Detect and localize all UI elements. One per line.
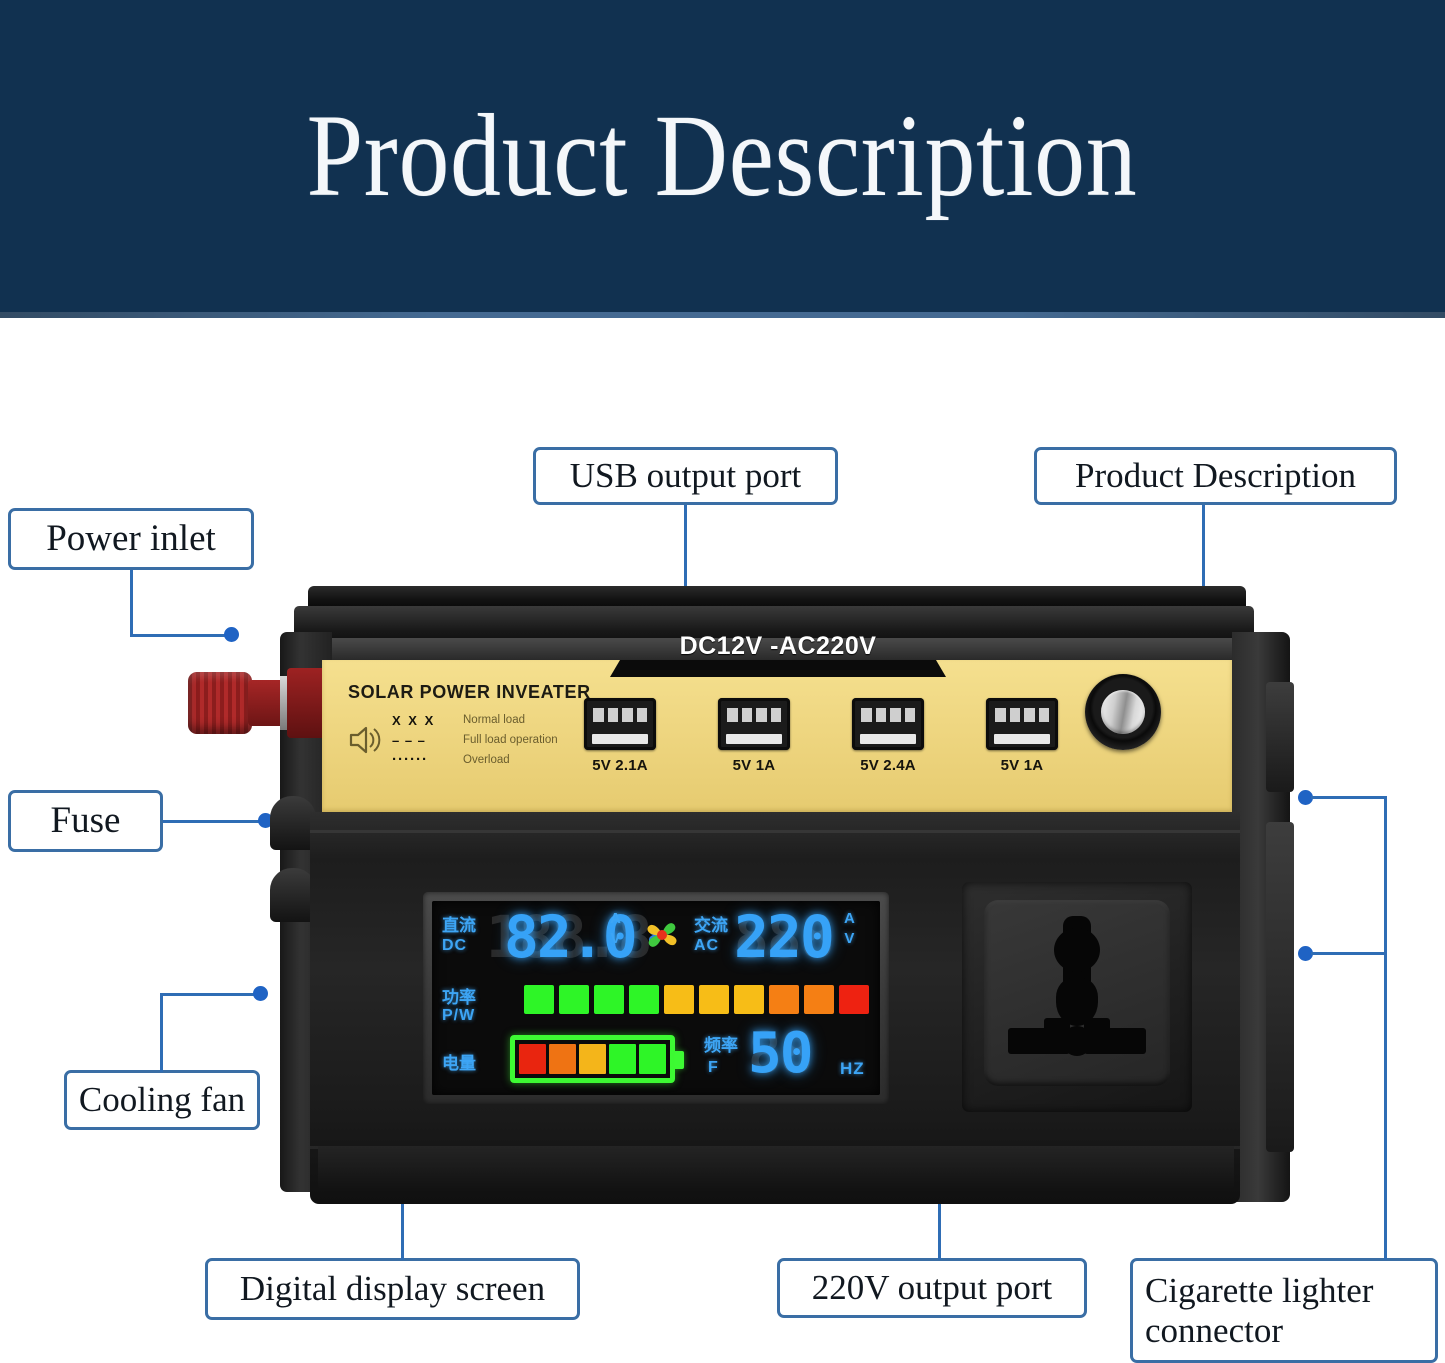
label-plate-notch xyxy=(610,660,946,677)
device-mount-ear-top xyxy=(1266,682,1294,792)
digital-display-screen: 直流 DC 188.8 82.0 A V xyxy=(423,892,889,1104)
alarm-row: – – – Full load operation xyxy=(392,730,558,750)
leader-power-inlet-horizontal xyxy=(130,634,230,637)
leader-cigarette-trunk xyxy=(1384,796,1387,1260)
lcd-power-label-cn: 功率 xyxy=(442,983,476,1008)
power-bar-segment-4 xyxy=(629,985,659,1014)
power-button[interactable] xyxy=(1085,674,1161,750)
power-inlet-plug xyxy=(188,664,338,742)
lcd-freq-label-cn: 频率 xyxy=(704,1031,738,1056)
power-bar-segment-1 xyxy=(524,985,554,1014)
callout-label: Cigarette lighter connector xyxy=(1145,1271,1423,1349)
callout-label: 220V output port xyxy=(812,1268,1052,1307)
leader-cigarette-upper-horizontal xyxy=(1311,796,1387,799)
banner-underline xyxy=(0,312,1445,318)
power-bar-segment-7 xyxy=(734,985,764,1014)
callout-digital-display-screen: Digital display screen xyxy=(205,1258,580,1320)
usb-port-shell xyxy=(584,698,656,750)
lcd-ac-label-en: AC xyxy=(694,937,719,955)
lcd-freq-value: 50 xyxy=(748,1021,811,1086)
power-bar-segment-8 xyxy=(769,985,799,1014)
callout-label: Power inlet xyxy=(46,518,216,559)
device-body-ridge xyxy=(310,830,1240,833)
lcd-dc-label-cn: 直流 xyxy=(442,911,476,936)
callout-label: Fuse xyxy=(51,800,121,841)
leader-cigarette-lower-horizontal xyxy=(1311,952,1387,955)
lcd-dc-unit-bottom: V xyxy=(610,929,621,949)
usb-port-shell xyxy=(852,698,924,750)
usb-port-label: 5V 1A xyxy=(718,757,790,774)
alarm-text: Overload xyxy=(463,754,510,766)
lcd-panel: 直流 DC 188.8 82.0 A V xyxy=(432,901,880,1095)
alarm-text: Full load operation xyxy=(463,734,558,746)
battery-terminal-nub xyxy=(675,1051,684,1069)
lcd-ac-unit-bottom: V xyxy=(844,929,855,949)
usb-port-3[interactable]: 5V 2.4A xyxy=(852,698,924,774)
page-header-banner: Product Description xyxy=(0,0,1445,312)
callout-power-inlet: Power inlet xyxy=(8,508,254,570)
lcd-freq-label-en: F xyxy=(708,1059,719,1077)
lcd-battery-label-cn: 电量 xyxy=(442,1049,476,1074)
alarm-text: Normal load xyxy=(463,714,525,726)
lcd-ac-value: 220 xyxy=(734,903,833,971)
usb-port-label: 5V 2.1A xyxy=(584,757,656,774)
lcd-ac-unit-top: A xyxy=(844,909,855,929)
leader-cooling-fan-vertical xyxy=(160,995,163,1072)
usb-port-shell xyxy=(986,698,1058,750)
usb-port-label: 5V 2.4A xyxy=(852,757,924,774)
alarm-legend-rows: X X X Normal load – – – Full load operat… xyxy=(392,710,558,770)
lcd-power-label-en: P/W xyxy=(442,1007,475,1025)
lcd-freq-unit: HZ xyxy=(840,1059,865,1079)
callout-usb-output-port: USB output port xyxy=(533,447,838,505)
power-button-cap xyxy=(1101,690,1145,734)
brand-text: SOLAR POWER INVEATER xyxy=(348,682,591,703)
usb-port-shell xyxy=(718,698,790,750)
device-bottom-fin xyxy=(318,1146,1234,1192)
usb-port-1[interactable]: 5V 2.1A xyxy=(584,698,656,774)
callout-label: Cooling fan xyxy=(79,1080,245,1119)
plug-knurled-knob xyxy=(188,672,252,734)
power-bar-segment-5 xyxy=(664,985,694,1014)
ac-output-socket[interactable] xyxy=(962,882,1192,1112)
usb-port-2[interactable]: 5V 1A xyxy=(718,698,790,774)
power-bar-segment-6 xyxy=(699,985,729,1014)
alarm-row: X X X Normal load xyxy=(392,710,558,730)
callout-cigarette-lighter-connector: Cigarette lighter connector xyxy=(1130,1258,1438,1363)
dot-cooling-fan xyxy=(253,986,268,1001)
callout-product-description: Product Description xyxy=(1034,447,1397,505)
callout-label: Digital display screen xyxy=(240,1269,545,1308)
usb-tongue xyxy=(860,734,916,744)
usb-contacts xyxy=(995,708,1049,722)
power-bar-indicator xyxy=(524,985,869,1014)
battery-segment-2 xyxy=(549,1044,576,1074)
usb-tongue xyxy=(994,734,1050,744)
callout-label: Product Description xyxy=(1075,456,1356,495)
lcd-ac-units: A V xyxy=(844,909,855,949)
alarm-symbol: ······ xyxy=(392,755,454,765)
alarm-symbol: X X X xyxy=(392,713,454,728)
usb-contacts xyxy=(727,708,781,722)
battery-segment-1 xyxy=(519,1044,546,1074)
speaker-icon xyxy=(348,724,382,756)
lcd-dc-label-en: DC xyxy=(442,937,467,955)
battery-indicator xyxy=(510,1035,675,1083)
fan-icon xyxy=(639,913,685,959)
device-voltage-header: DC12V -AC220V xyxy=(610,630,946,662)
socket-face xyxy=(984,900,1170,1086)
leader-fuse-horizontal xyxy=(163,820,265,823)
callout-label: USB output port xyxy=(570,456,801,495)
page-title: Product Description xyxy=(307,97,1138,215)
power-bar-segment-3 xyxy=(594,985,624,1014)
device-mount-ear-bottom xyxy=(1266,822,1294,1152)
plug-neck xyxy=(248,680,284,726)
leader-power-inlet-vertical xyxy=(130,570,133,636)
inverter-device: DC12V -AC220V SOLAR POWER INVEATER X X X… xyxy=(280,586,1290,1246)
usb-contacts xyxy=(861,708,915,722)
leader-cooling-fan-horizontal xyxy=(160,993,260,996)
lcd-dc-units: A V xyxy=(610,909,621,949)
callout-220v-output-port: 220V output port xyxy=(777,1258,1087,1318)
usb-port-label: 5V 1A xyxy=(986,757,1058,774)
usb-tongue xyxy=(726,734,782,744)
battery-segment-5 xyxy=(639,1044,666,1074)
usb-port-4[interactable]: 5V 1A xyxy=(986,698,1058,774)
callout-fuse: Fuse xyxy=(8,790,163,852)
socket-slot-top-round xyxy=(1054,928,1100,972)
battery-segment-3 xyxy=(579,1044,606,1074)
socket-ground-hole xyxy=(1062,1026,1092,1056)
alarm-legend: X X X Normal load – – – Full load operat… xyxy=(348,710,558,770)
usb-contacts xyxy=(593,708,647,722)
lcd-dc-unit-top: A xyxy=(610,909,621,929)
power-bar-segment-10 xyxy=(839,985,869,1014)
power-bar-segment-9 xyxy=(804,985,834,1014)
battery-segment-4 xyxy=(609,1044,636,1074)
usb-tongue xyxy=(592,734,648,744)
callout-cooling-fan: Cooling fan xyxy=(64,1070,260,1130)
power-bar-segment-2 xyxy=(559,985,589,1014)
alarm-row: ······ Overload xyxy=(392,750,558,770)
lcd-ac-label-cn: 交流 xyxy=(694,911,728,936)
dot-power-inlet xyxy=(224,627,239,642)
alarm-symbol: – – – xyxy=(392,733,454,748)
